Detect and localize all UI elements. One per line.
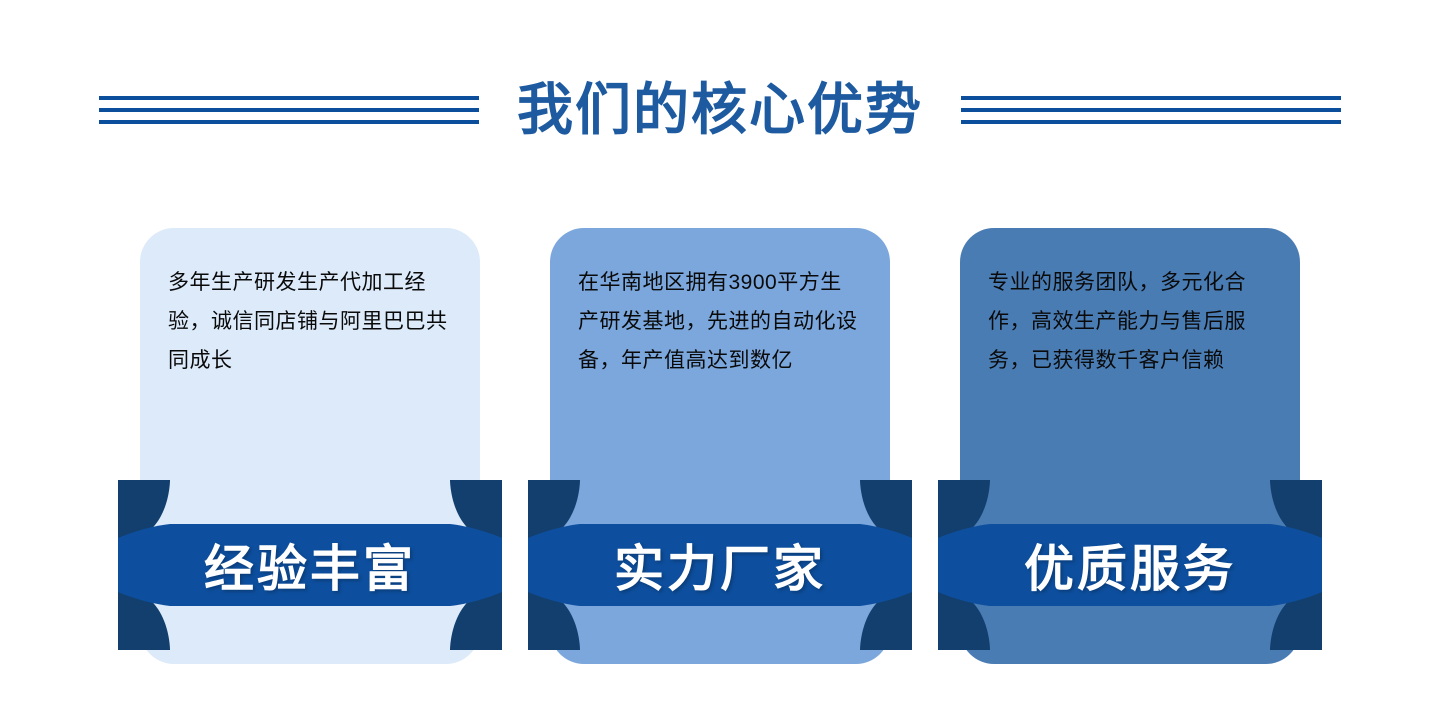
decorative-rule-left [99, 96, 479, 124]
advantage-card[interactable]: 多年生产研发生产代加工经验，诚信同店铺与阿里巴巴共同成长 经验丰富 [140, 228, 480, 664]
rule-line [99, 120, 479, 124]
ribbon-title: 实力厂家 [528, 480, 912, 650]
card-description: 在华南地区拥有3900平方生产研发基地，先进的自动化设备，年产值高达到数亿 [578, 264, 862, 381]
advantage-card[interactable]: 在华南地区拥有3900平方生产研发基地，先进的自动化设备，年产值高达到数亿 实力… [550, 228, 890, 664]
card-description: 多年生产研发生产代加工经验，诚信同店铺与阿里巴巴共同成长 [168, 264, 452, 381]
decorative-rule-right [961, 96, 1341, 124]
card-description: 专业的服务团队，多元化合作，高效生产能力与售后服务，已获得数千客户信赖 [988, 264, 1272, 381]
rule-line [961, 96, 1341, 100]
advantage-card-list: 多年生产研发生产代加工经验，诚信同店铺与阿里巴巴共同成长 经验丰富 在华南地区拥… [0, 228, 1440, 668]
advantage-card[interactable]: 专业的服务团队，多元化合作，高效生产能力与售后服务，已获得数千客户信赖 优质服务 [960, 228, 1300, 664]
rule-line [961, 120, 1341, 124]
rule-line [961, 108, 1341, 112]
ribbon-title: 优质服务 [938, 480, 1322, 650]
rule-line [99, 108, 479, 112]
ribbon-title: 经验丰富 [118, 480, 502, 650]
page-title: 我们的核心优势 [517, 82, 923, 138]
page-header: 我们的核心优势 [0, 60, 1440, 160]
rule-line [99, 96, 479, 100]
